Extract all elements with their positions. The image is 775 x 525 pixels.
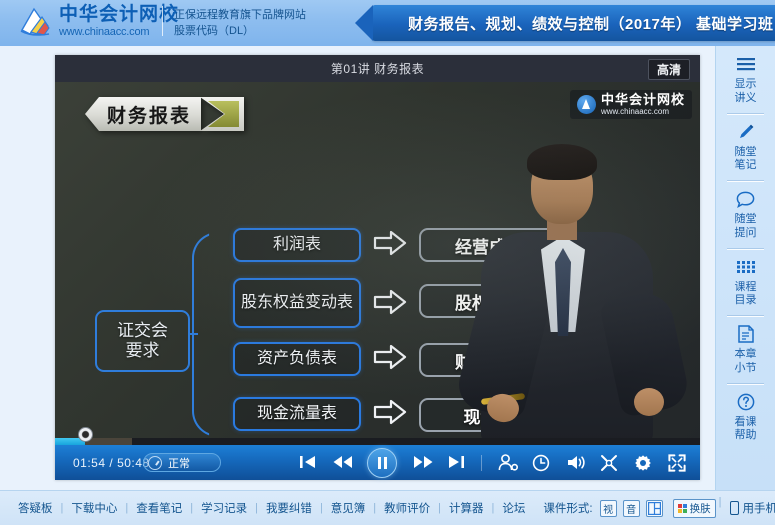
previous-track-icon[interactable] [299, 454, 317, 472]
site-header: 中华会计网校 www.chinaacc.com 正保远程教育旗下品牌网站 股票代… [0, 0, 775, 46]
sidebar-item-label: 随堂笔记 [732, 146, 760, 174]
split-view-icon[interactable] [646, 500, 663, 517]
quality-badge[interactable]: 高清 [648, 59, 690, 80]
watermark-name: 中华会计网校 [601, 93, 685, 106]
logo-glyph-icon [18, 6, 52, 38]
bottom-link-download-center[interactable]: 下载中心 [63, 500, 125, 516]
watch-on-mobile-label: 用手机看 [743, 500, 775, 516]
sidebar-item-chapter-summary[interactable]: 本章小节 [716, 316, 775, 384]
time-separator: / [109, 456, 113, 470]
diagram-arrow-icon [373, 399, 407, 425]
bottom-link-view-notes[interactable]: 查看笔记 [128, 500, 190, 516]
diagram-bracket-stem [188, 333, 198, 335]
diagram-right-node: 财务状况 [419, 343, 559, 377]
rewind-icon[interactable] [333, 454, 351, 472]
bottom-separator: | [716, 496, 722, 520]
header-divider [162, 6, 163, 36]
diagram-right-node: 经营成果 [419, 228, 559, 262]
change-skin-label: 换肤 [690, 501, 711, 516]
header-subtitle: 正保远程教育旗下品牌网站 股票代码（DL） [174, 8, 306, 40]
sidebar-item-label: 看课帮助 [732, 416, 760, 444]
fullscreen-icon[interactable] [668, 454, 686, 472]
sidebar-item-label: 课程目录 [732, 281, 760, 309]
sidebar-item-show-handout[interactable]: 显示讲义 [716, 46, 775, 114]
document-icon [738, 325, 754, 343]
format-video-button[interactable]: 视 [600, 500, 617, 517]
phone-icon [730, 501, 739, 515]
bottom-toolbar: 答疑板 | 下载中心 | 查看笔记 | 学习记录 | 我要纠错 | 意见簿 | … [0, 490, 775, 525]
progress-bar[interactable] [55, 438, 700, 445]
site-logo[interactable]: 中华会计网校 www.chinaacc.com [18, 5, 179, 38]
diagram-left-node-line2: 要求 [126, 341, 160, 361]
bottom-link-forum[interactable]: 论坛 [494, 500, 533, 516]
skin-palette-icon [678, 504, 687, 513]
bottom-link-teacher-rating[interactable]: 教师评价 [376, 500, 438, 516]
diagram-right-node: 现金流 [419, 398, 559, 432]
sidebar-item-label: 显示讲义 [732, 78, 760, 106]
watermark-logo-icon [577, 95, 596, 114]
diagram-arrow-icon [373, 289, 407, 315]
course-title: 财务报告、规划、绩效与控制（2017年） 基础学习班 [408, 13, 774, 34]
clock-icon[interactable] [532, 454, 550, 472]
diagram-left-node: 证交会 要求 [95, 310, 190, 372]
bottom-link-study-record[interactable]: 学习记录 [193, 500, 255, 516]
sidebar-item-label: 本章小节 [732, 348, 760, 376]
question-circle-icon [737, 393, 755, 411]
video-watermark: 中华会计网校 www.chinaacc.com [570, 90, 692, 119]
player-controls[interactable]: 01:54 / 50:48 正常 [55, 444, 700, 480]
diagram-left-node-line1: 证交会 [117, 321, 168, 341]
watch-on-mobile-button[interactable]: 用手机看 [730, 500, 775, 516]
format-audio-button[interactable]: 音 [623, 500, 640, 517]
progress-handle[interactable] [78, 427, 93, 442]
current-time: 01:54 [73, 456, 106, 470]
fast-forward-icon[interactable] [413, 454, 431, 472]
logo-name-cn: 中华会计网校 [59, 5, 179, 24]
menu-lines-icon [737, 55, 755, 73]
watermark-url: www.chinaacc.com [601, 108, 685, 116]
bottom-link-qa-board[interactable]: 答疑板 [10, 500, 61, 516]
slide-title-banner: 财务报表 [85, 97, 244, 131]
bottom-link-report-error[interactable]: 我要纠错 [258, 500, 320, 516]
diagram-right-node: 股权变动 [419, 284, 559, 318]
grid-icon [737, 258, 755, 276]
video-player[interactable]: 第01讲 财务报表 高清 中华会计网校 www.chinaacc.com 财务报… [55, 55, 700, 480]
header-sub-line1: 正保远程教育旗下品牌网站 [174, 8, 306, 24]
tool-sidebar: 显示讲义 随堂笔记 随堂提问 课程目录 本章小节 [715, 46, 775, 490]
diagram-mid-node: 资产负债表 [233, 342, 361, 376]
header-sub-line2: 股票代码（DL） [174, 24, 306, 40]
diagram-mid-node: 股东权益变动表 [233, 278, 361, 328]
next-track-icon[interactable] [447, 454, 465, 472]
chat-bubble-icon [736, 190, 755, 208]
user-icon[interactable] [498, 454, 516, 472]
playback-speed-selector[interactable]: 正常 [143, 453, 221, 472]
pencil-icon [737, 123, 755, 141]
sidebar-item-watch-help[interactable]: 看课帮助 [716, 384, 775, 452]
logo-icon [18, 6, 52, 38]
sidebar-item-class-notes[interactable]: 随堂笔记 [716, 114, 775, 182]
time-display: 01:54 / 50:48 [73, 456, 150, 470]
sidebar-item-label: 随堂提问 [732, 213, 760, 241]
change-skin-button[interactable]: 换肤 [673, 499, 716, 518]
bottom-link-feedback[interactable]: 意见簿 [323, 500, 374, 516]
sidebar-item-class-question[interactable]: 随堂提问 [716, 181, 775, 249]
gear-icon[interactable] [634, 454, 652, 472]
sidebar-item-course-catalog[interactable]: 课程目录 [716, 249, 775, 317]
volume-icon[interactable] [566, 454, 584, 472]
pause-icon[interactable] [367, 448, 397, 478]
diagram-mid-node: 利润表 [233, 228, 361, 262]
slide-title-text: 财务报表 [107, 101, 191, 128]
courseware-format-label: 课件形式: [533, 500, 596, 516]
diagram-arrow-icon [373, 230, 407, 256]
slide-title-arrow-icon [200, 97, 244, 131]
snapshot-icon[interactable] [600, 454, 618, 472]
speed-clock-icon [148, 456, 162, 470]
bottom-link-calculator[interactable]: 计算器 [441, 500, 492, 516]
player-top-bar: 第01讲 财务报表 高清 [55, 55, 700, 82]
controls-divider [481, 455, 482, 471]
course-title-banner: 财务报告、规划、绩效与控制（2017年） 基础学习班 [372, 5, 775, 41]
diagram-arrow-icon [373, 344, 407, 370]
diagram-mid-node: 现金流量表 [233, 397, 361, 431]
logo-url: www.chinaacc.com [59, 27, 179, 38]
lesson-title: 第01讲 财务报表 [331, 60, 424, 77]
speed-label: 正常 [168, 455, 190, 471]
video-stage[interactable]: 中华会计网校 www.chinaacc.com 财务报表 证交会 要求 利润表 … [55, 82, 700, 444]
